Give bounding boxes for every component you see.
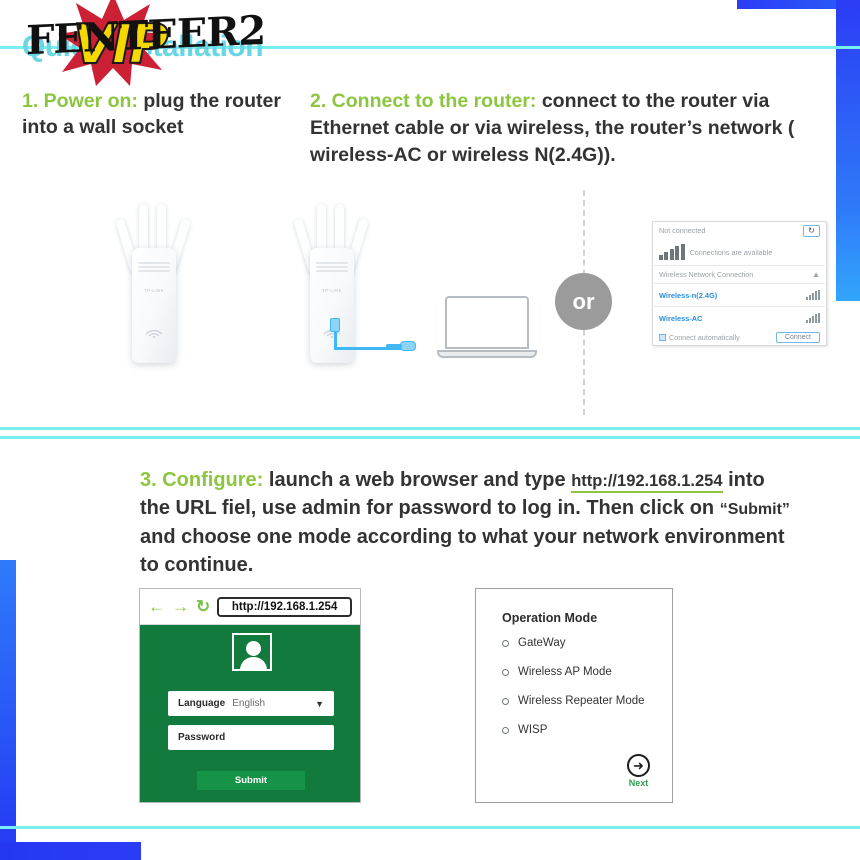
decor-blue-strip-bottom (0, 842, 141, 860)
decor-cyan-line-mid-upper (0, 427, 860, 430)
option-label: Wireless Repeater Mode (518, 695, 645, 707)
password-placeholder: Password (178, 732, 225, 743)
option-label: WISP (518, 724, 547, 736)
step-3-quoted-label: Submit (728, 501, 782, 518)
signal-bars-icon (806, 313, 820, 323)
wifi-network-item[interactable]: Wireless-n(2.4G) (653, 284, 826, 306)
router-device-connected: TP-LINK (300, 196, 364, 366)
step-2-text: 2. Connect to the router: connect to the… (310, 88, 850, 169)
forward-icon[interactable]: → (172, 598, 189, 615)
user-avatar-icon (232, 633, 272, 671)
chevron-up-icon[interactable]: ▲ (812, 270, 820, 279)
laptop-device (437, 296, 537, 366)
or-divider-badge: or (555, 273, 612, 330)
wifi-available-row: Connections are available (653, 239, 826, 265)
language-value: English (232, 698, 265, 709)
wifi-available-label: Connections are available (685, 248, 820, 257)
step-3-number: 3. Configure: (140, 469, 263, 491)
router-body: TP-LINK (132, 248, 176, 363)
quote-close: ” (782, 501, 790, 518)
browser-toolbar: ← → ↻ http://192.168.1.254 (140, 589, 360, 625)
signal-bars-icon (806, 290, 820, 300)
decor-blue-strip-left (0, 560, 16, 860)
wifi-section-row[interactable]: Wireless Network Connection ▲ (653, 266, 826, 283)
back-icon[interactable]: ← (148, 598, 165, 615)
wifi-network-item[interactable]: Wireless-AC (653, 307, 826, 329)
laptop-screen (445, 296, 529, 349)
step-3-body-end: and choose one mode according to what yo… (140, 526, 785, 576)
router-login-mock: ← → ↻ http://192.168.1.254 Language Engl… (139, 588, 361, 803)
option-label: GateWay (518, 637, 566, 649)
radio-icon[interactable] (502, 727, 509, 734)
chevron-down-icon[interactable]: ▼ (315, 699, 324, 709)
next-button[interactable]: ➜ Next (627, 754, 650, 788)
decor-cyan-line-mid-lower (0, 436, 860, 439)
reload-icon[interactable]: ↻ (196, 598, 210, 615)
step-2-number: 2. Connect to the router: (310, 90, 536, 112)
operation-mode-option-wisp[interactable]: WISP (502, 724, 672, 736)
step-1-text: 1. Power on: plug the router into a wall… (22, 88, 302, 141)
operation-mode-panel: Operation Mode GateWay Wireless AP Mode … (475, 588, 673, 803)
login-form: Language English ▼ Password Submit (140, 625, 360, 803)
operation-mode-option-wireless-ap[interactable]: Wireless AP Mode (502, 666, 672, 678)
radio-icon[interactable] (502, 640, 509, 647)
connect-button[interactable]: Connect (776, 332, 820, 343)
router-led-icon (143, 326, 165, 338)
wifi-network-panel: Not connected ↻ Connections are availabl… (652, 221, 827, 346)
password-input[interactable]: Password (168, 725, 334, 750)
wifi-section-label: Wireless Network Connection (659, 270, 753, 279)
next-label: Next (627, 778, 650, 788)
rj45-plug-router (330, 318, 340, 332)
operation-mode-option-wireless-repeater[interactable]: Wireless Repeater Mode (502, 695, 672, 707)
watermark-brand: FENTEER2 (26, 11, 265, 61)
rj45-plug-laptop (400, 341, 416, 351)
quote-open: “ (720, 501, 728, 518)
router-brand-label: TP-LINK (140, 288, 168, 293)
laptop-base (437, 350, 537, 358)
wifi-ssid-label: Wireless-n(2.4G) (659, 291, 717, 300)
signal-strength-icon (659, 244, 685, 260)
auto-connect-checkbox[interactable]: Connect automatically (659, 333, 740, 342)
operation-mode-option-gateway[interactable]: GateWay (502, 637, 672, 649)
checkbox-icon[interactable] (659, 334, 666, 341)
language-select[interactable]: Language English ▼ (168, 691, 334, 716)
language-label: Language (178, 698, 225, 709)
wifi-refresh-icon[interactable]: ↻ (803, 225, 820, 237)
radio-icon[interactable] (502, 698, 509, 705)
router-device-powered: TP-LINK (122, 196, 186, 366)
watermark: VIP FENTEER2 (18, 0, 298, 89)
wifi-status-label: Not connected (659, 226, 705, 235)
wifi-status-row: Not connected ↻ (653, 222, 826, 239)
decor-cyan-line-bottom (0, 826, 860, 829)
arrow-right-icon[interactable]: ➜ (627, 754, 650, 777)
option-label: Wireless AP Mode (518, 666, 612, 678)
router-body: TP-LINK (310, 248, 354, 363)
auto-connect-label: Connect automatically (669, 333, 740, 342)
router-brand-label: TP-LINK (318, 288, 346, 293)
operation-mode-title: Operation Mode (502, 611, 672, 625)
page-root: Quick Installation VIP FENTEER2 1. Power… (0, 0, 860, 860)
step-3-url: http://192.168.1.254 (571, 472, 722, 493)
wifi-ssid-label: Wireless-AC (659, 314, 702, 323)
submit-button[interactable]: Submit (197, 771, 305, 790)
step-3-body-before: launch a web browser and type (263, 469, 571, 491)
radio-icon[interactable] (502, 669, 509, 676)
address-bar-input[interactable]: http://192.168.1.254 (217, 597, 352, 617)
step-1-number: 1. Power on: (22, 90, 138, 112)
wifi-connect-row: Connect automatically Connect (653, 329, 826, 346)
step-3-text: 3. Configure: launch a web browser and t… (140, 466, 800, 580)
